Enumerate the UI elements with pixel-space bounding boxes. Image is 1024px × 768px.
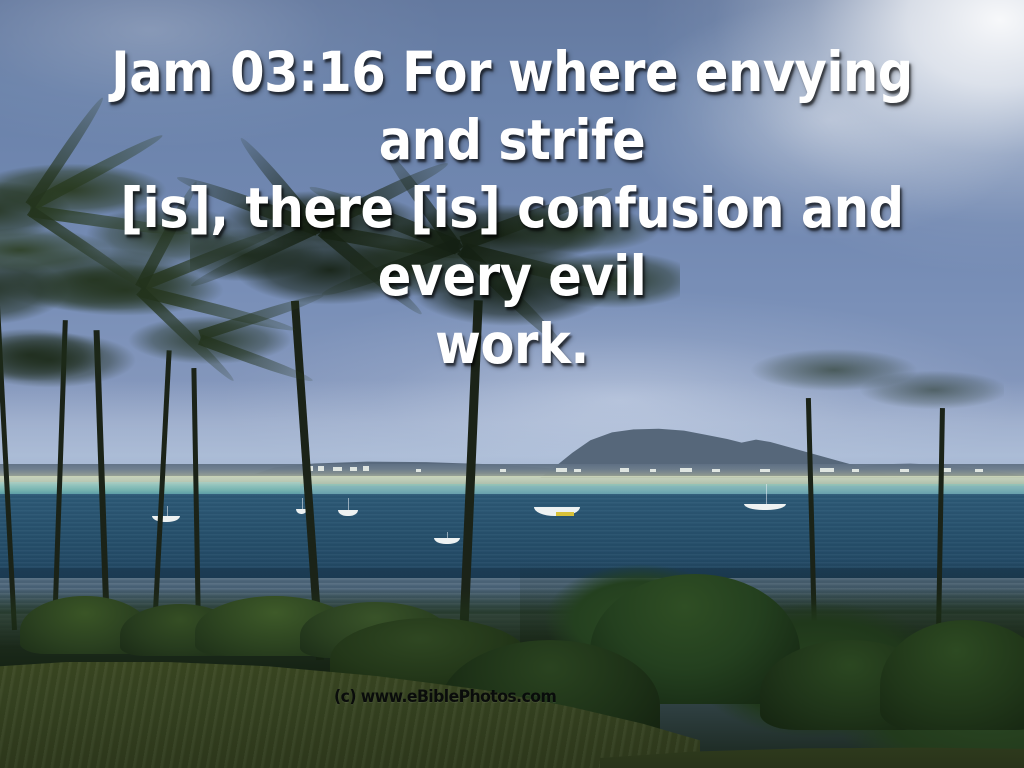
boat-hull <box>434 538 460 544</box>
boat-hull <box>338 510 358 516</box>
motorboat-yellow <box>534 500 582 516</box>
shore-building <box>500 469 506 472</box>
verse-line-2: [is], there [is] confusion and every evi… <box>75 174 950 310</box>
shore-building <box>574 469 581 472</box>
shore-building <box>975 469 983 472</box>
catamaran-right <box>744 484 788 510</box>
verse-line-1: Jam 03:16 For where envying and strife <box>75 38 950 174</box>
shore-building <box>900 469 909 472</box>
shore-building <box>350 467 357 471</box>
verse-text-overlay: Jam 03:16 For where envying and strife [… <box>51 38 973 378</box>
verse-photo-image: Jam 03:16 For where envying and strife [… <box>0 0 1024 768</box>
verse-line-3: work. <box>75 310 950 378</box>
shore-building <box>712 469 720 472</box>
shore-building <box>318 466 324 471</box>
shore-building <box>416 469 421 472</box>
sailboat-midleft <box>434 532 462 544</box>
shore-building <box>760 469 770 472</box>
boat-mast <box>766 484 767 506</box>
boat-hull <box>152 516 180 522</box>
shore-building <box>620 468 629 472</box>
shore-building <box>820 468 834 472</box>
shore-building <box>680 468 692 472</box>
boat-yellow-stripe <box>556 512 574 516</box>
shore-building <box>333 467 342 471</box>
shore-building <box>650 469 656 472</box>
shore-building <box>556 468 567 472</box>
sailboat-center-b <box>338 498 360 516</box>
watermark-credit: (c) www.eBiblePhotos.com <box>334 688 573 706</box>
sailboat-left <box>152 506 182 522</box>
boat-hull <box>744 504 786 510</box>
shore-building <box>852 469 859 472</box>
shore-building <box>363 466 369 471</box>
